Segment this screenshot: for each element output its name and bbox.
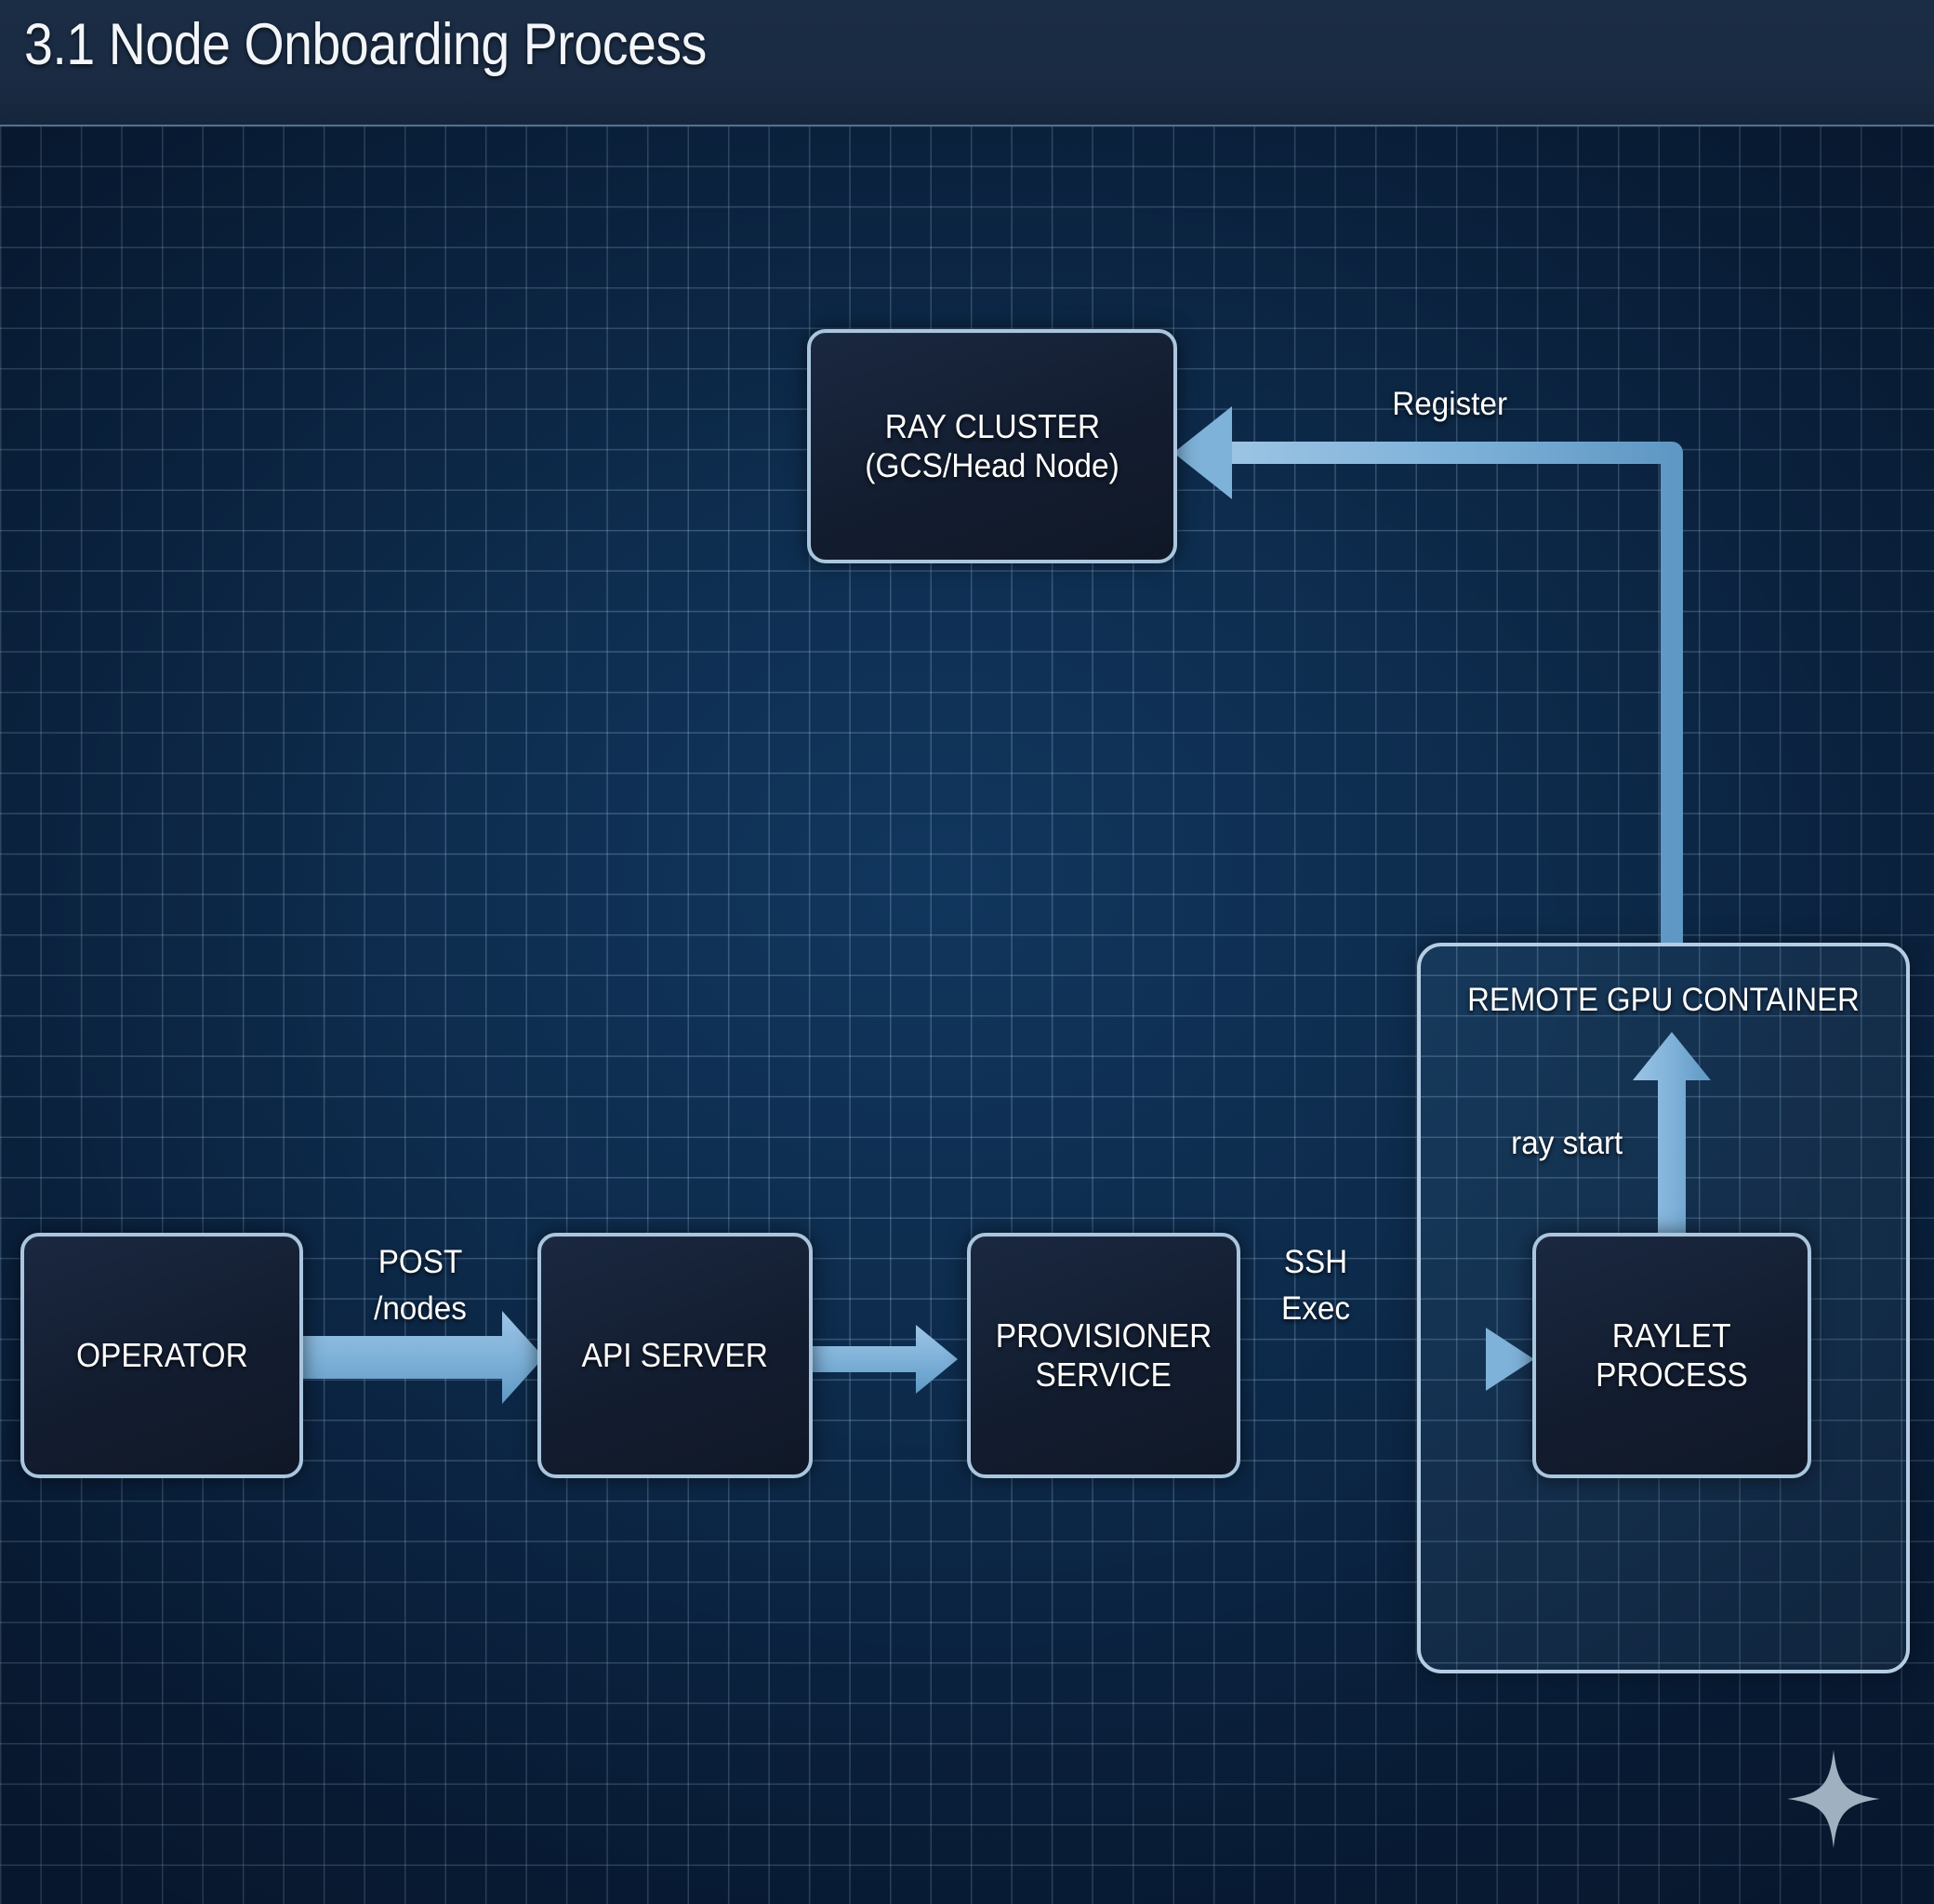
header-bar: 3.1 Node Onboarding Process xyxy=(0,0,1934,126)
node-ray-cluster-line2: (GCS/Head Node) xyxy=(865,446,1119,485)
arrow-register-to-ray-cluster xyxy=(1173,406,1672,943)
page-title: 3.1 Node Onboarding Process xyxy=(24,11,707,78)
node-api-server-line1: API SERVER xyxy=(582,1336,768,1375)
node-provisioner-service[interactable]: PROVISIONER SERVICE xyxy=(967,1233,1240,1478)
node-ray-cluster[interactable]: RAY CLUSTER (GCS/Head Node) xyxy=(807,329,1177,563)
node-raylet-process[interactable]: RAYLET PROCESS xyxy=(1532,1233,1811,1478)
node-operator[interactable]: OPERATOR xyxy=(20,1233,303,1478)
edge-label-register: Register xyxy=(1392,386,1507,423)
node-provisioner-line2: SERVICE xyxy=(1036,1355,1172,1395)
node-operator-line1: OPERATOR xyxy=(76,1336,248,1375)
diagram-canvas: REMOTE GPU CONTAINER RAY CLUSTER (GCS/He… xyxy=(0,0,1934,1904)
edge-label-ray-start: ray start xyxy=(1511,1125,1623,1162)
edge-label-ssh-exec-line2: Exec xyxy=(1240,1290,1391,1328)
edge-label-post-nodes-line2: /nodes xyxy=(341,1290,500,1328)
node-provisioner-line1: PROVISIONER xyxy=(996,1316,1212,1355)
remote-gpu-container-title: REMOTE GPU CONTAINER xyxy=(1436,982,1892,1019)
node-raylet-line1: RAYLET xyxy=(1612,1316,1731,1355)
four-point-star-icon xyxy=(1785,1748,1882,1850)
edge-label-ssh-exec-line1: SSH xyxy=(1240,1244,1391,1281)
edge-label-post-nodes-line1: POST xyxy=(341,1244,500,1281)
node-ray-cluster-line1: RAY CLUSTER xyxy=(884,407,1099,446)
node-raylet-line2: PROCESS xyxy=(1596,1355,1748,1395)
node-api-server[interactable]: API SERVER xyxy=(537,1233,813,1478)
